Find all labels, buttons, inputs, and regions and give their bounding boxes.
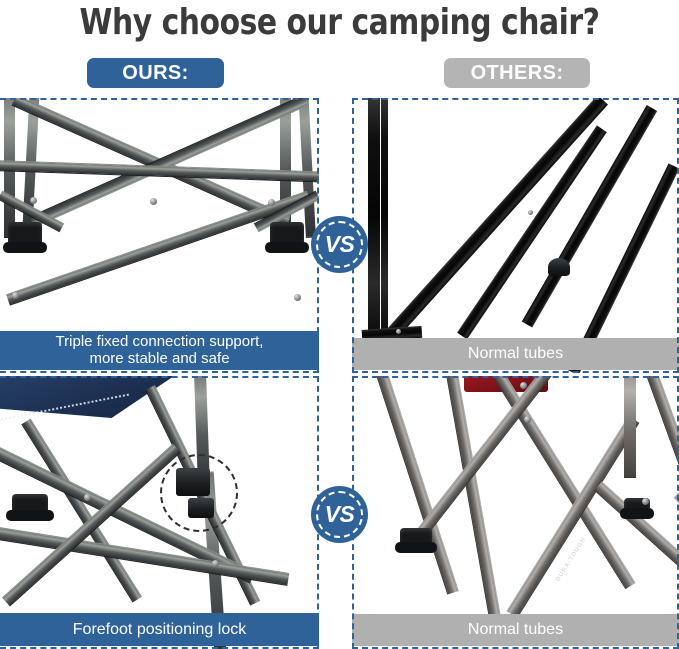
header: Why choose our camping chair? OURS: OTHE… <box>0 0 679 98</box>
caption-ours-top: Triple fixed connection support, more st… <box>0 331 319 370</box>
comparison-grid: Triple fixed connection support, more st… <box>0 98 679 649</box>
chair-foot <box>400 528 432 550</box>
vs-badge-bottom: VS <box>311 486 368 543</box>
caption-ours-bottom-label: Forefoot positioning lock <box>73 621 246 639</box>
vs-badge-top: VS <box>311 216 368 273</box>
badge-others-label: OTHERS: <box>471 62 564 85</box>
panel-ours-top: Triple fixed connection support, more st… <box>0 98 319 373</box>
caption-others-bottom-label: Normal tubes <box>468 621 563 639</box>
badge-ours: OURS: <box>87 58 224 88</box>
page-title: Why choose our camping chair? <box>27 2 652 43</box>
chair-foot <box>270 222 304 250</box>
caption-others-bottom: Normal tubes <box>352 614 679 646</box>
caption-ours-bottom: Forefoot positioning lock <box>0 613 319 646</box>
badge-others: OTHERS: <box>444 58 590 88</box>
panel-others-bottom: DURA-TOUGH Normal tubes <box>352 376 679 649</box>
caption-ours-top-line2: more stable and safe <box>89 351 229 368</box>
panel-others-bottom-image: DURA-TOUGH <box>352 376 679 649</box>
vs-badge-top-label: VS <box>325 231 355 258</box>
panel-ours-bottom: Forefoot positioning lock <box>0 376 319 649</box>
caption-ours-top-line1: Triple fixed connection support, <box>56 334 264 351</box>
panel-ours-bottom-image <box>0 376 319 649</box>
chair-foot <box>8 222 42 250</box>
vs-badge-bottom-label: VS <box>325 501 355 528</box>
badge-ours-label: OURS: <box>122 62 188 85</box>
caption-others-top: Normal tubes <box>352 338 679 370</box>
chair-foot <box>12 494 48 518</box>
lock-highlight-circle <box>160 454 238 532</box>
panel-others-top: Normal tubes <box>352 98 679 373</box>
caption-others-top-label: Normal tubes <box>468 345 563 363</box>
panel-others-top-image <box>352 98 679 373</box>
